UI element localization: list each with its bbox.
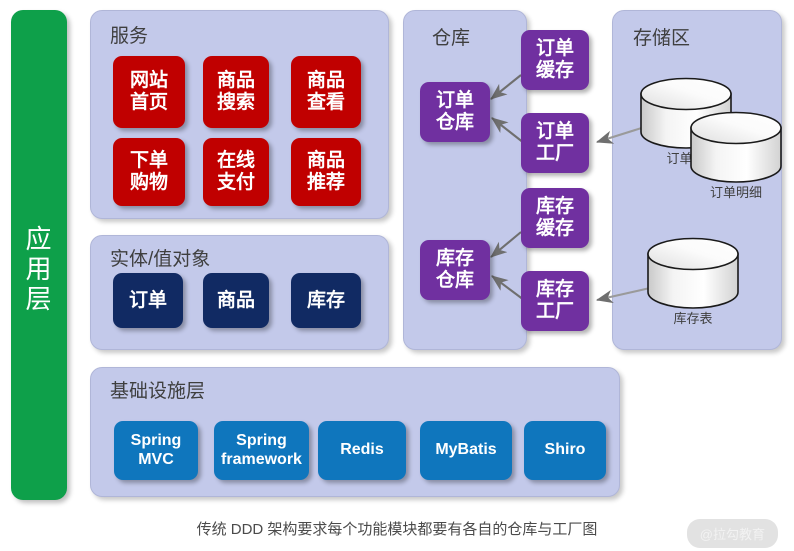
infra-node-mybatis[interactable]: MyBatis	[420, 421, 512, 480]
repo-node-1-line-1: 仓库	[436, 270, 474, 292]
repo-node-0-line-1: 仓库	[436, 112, 474, 134]
service-node-3-line-1: 购物	[130, 172, 168, 194]
satellite-node-inventory-cache[interactable]: 库存 缓存	[521, 188, 589, 248]
app-layer-char-0: 应	[11, 224, 67, 254]
entity-node-1-line-0: 商品	[217, 290, 255, 312]
application-layer-bar: 应 用 层	[11, 10, 67, 500]
infra-node-spring-framework[interactable]: Spring framework	[214, 421, 309, 480]
service-node-2-line-1: 查看	[307, 92, 345, 114]
watermark-badge: @拉勾教育	[687, 519, 778, 548]
repository-panel-title: 仓库	[432, 28, 470, 50]
database-cylinder-order-detail: 订单明细	[688, 112, 784, 192]
infra-node-redis[interactable]: Redis	[318, 421, 406, 480]
cylinder-label-order-detail: 订单明细	[682, 182, 790, 201]
database-cylinder-inventory-table: 库存表	[645, 238, 741, 318]
satellite-node-order-factory[interactable]: 订单 工厂	[521, 113, 589, 173]
service-node-4-line-0: 在线	[217, 150, 255, 172]
repo-node-0-line-0: 订单	[436, 90, 474, 112]
service-node-4-line-1: 支付	[217, 172, 255, 194]
satellite-node-1-line-1: 工厂	[536, 143, 574, 165]
infra-node-3-line-0: MyBatis	[435, 441, 496, 459]
service-node-2-line-0: 商品	[307, 70, 345, 92]
app-layer-char-2: 层	[11, 284, 67, 314]
entity-node-product[interactable]: 商品	[203, 273, 269, 328]
repo-node-1-line-0: 库存	[436, 248, 474, 270]
satellite-node-0-line-0: 订单	[536, 38, 574, 60]
infra-node-1-line-0: Spring	[221, 432, 302, 450]
diagram-caption: 传统 DDD 架构要求每个功能模块都要有各自的仓库与工厂图	[0, 518, 794, 539]
entity-node-inventory[interactable]: 库存	[291, 273, 361, 328]
service-node-product-search[interactable]: 商品 搜索	[203, 56, 269, 128]
repository-node-order-repository[interactable]: 订单 仓库	[420, 82, 490, 142]
satellite-node-1-line-0: 订单	[536, 121, 574, 143]
infra-node-4-line-0: Shiro	[545, 441, 586, 459]
service-node-5-line-1: 推荐	[307, 172, 345, 194]
app-layer-char-1: 用	[11, 254, 67, 284]
service-node-0-line-0: 网站	[130, 70, 168, 92]
entity-node-2-line-0: 库存	[307, 290, 345, 312]
satellite-node-2-line-1: 缓存	[536, 218, 574, 240]
infra-node-0-line-0: Spring	[131, 432, 182, 450]
infra-node-2-line-0: Redis	[340, 441, 384, 459]
service-panel-title: 服务	[110, 26, 148, 48]
service-node-website-home[interactable]: 网站 首页	[113, 56, 185, 128]
service-node-3-line-0: 下单	[130, 150, 168, 172]
service-node-1-line-1: 搜索	[217, 92, 255, 114]
service-node-product-view[interactable]: 商品 查看	[291, 56, 361, 128]
satellite-node-inventory-factory[interactable]: 库存 工厂	[521, 271, 589, 331]
service-node-0-line-1: 首页	[130, 92, 168, 114]
satellite-node-order-cache[interactable]: 订单 缓存	[521, 30, 589, 90]
cylinder-label-inventory-table: 库存表	[639, 308, 747, 327]
service-node-5-line-0: 商品	[307, 150, 345, 172]
service-node-place-order[interactable]: 下单 购物	[113, 138, 185, 206]
storage-panel-title: 存储区	[633, 28, 690, 50]
satellite-node-0-line-1: 缓存	[536, 60, 574, 82]
repository-node-inventory-repository[interactable]: 库存 仓库	[420, 240, 490, 300]
infrastructure-panel-title: 基础设施层	[110, 381, 205, 403]
infra-node-spring-mvc[interactable]: Spring MVC	[114, 421, 198, 480]
entity-panel-title: 实体/值对象	[110, 249, 210, 271]
service-node-product-recommend[interactable]: 商品 推荐	[291, 138, 361, 206]
service-node-online-payment[interactable]: 在线 支付	[203, 138, 269, 206]
satellite-node-3-line-0: 库存	[536, 279, 574, 301]
application-layer-label: 应 用 层	[11, 224, 67, 314]
infra-node-0-line-1: MVC	[131, 451, 182, 469]
infra-node-1-line-1: framework	[221, 451, 302, 469]
entity-node-0-line-0: 订单	[129, 290, 167, 312]
entity-node-order[interactable]: 订单	[113, 273, 183, 328]
satellite-node-2-line-0: 库存	[536, 196, 574, 218]
diagram-canvas: 应 用 层 服务 网站 首页 商品 搜索 商品 查看 下单 购物 在线	[0, 0, 794, 551]
infra-node-shiro[interactable]: Shiro	[524, 421, 606, 480]
service-node-1-line-0: 商品	[217, 70, 255, 92]
satellite-node-3-line-1: 工厂	[536, 301, 574, 323]
